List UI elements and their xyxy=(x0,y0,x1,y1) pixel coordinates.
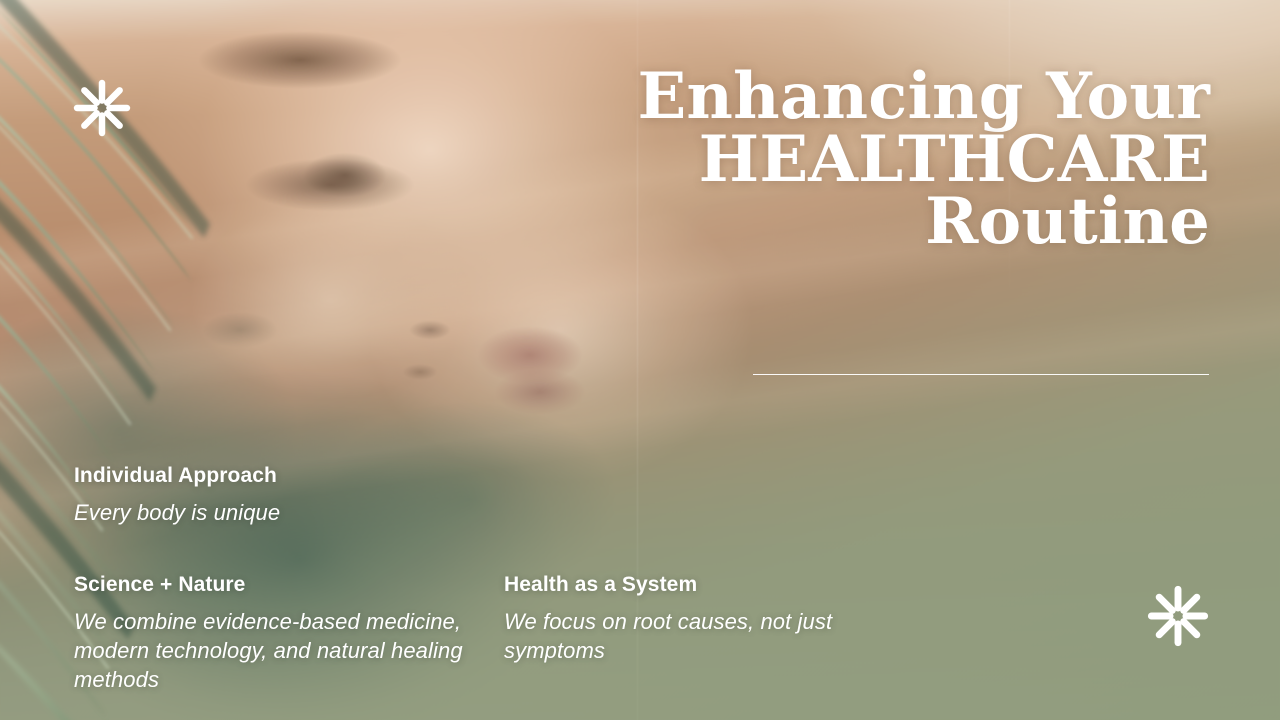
feature-block-science-nature: Science + Nature We combine evidence-bas… xyxy=(74,572,474,694)
horizontal-divider xyxy=(753,374,1209,375)
feature-body: Every body is unique xyxy=(74,498,494,527)
feature-body: We combine evidence-based medicine, mode… xyxy=(74,607,474,694)
asterisk-icon xyxy=(72,78,132,138)
presentation-slide: Enhancing Your HEALTHCARE Routine Indivi… xyxy=(0,0,1280,720)
asterisk-icon xyxy=(1146,584,1210,648)
headline-line-1: Enhancing Your xyxy=(410,66,1210,129)
feature-body: We focus on root causes, not just sympto… xyxy=(504,607,934,665)
feature-block-individual-approach: Individual Approach Every body is unique xyxy=(74,463,494,527)
headline-line-2: HEALTHCARE Routine xyxy=(410,129,1210,254)
feature-title: Science + Nature xyxy=(74,572,474,598)
feature-title: Health as a System xyxy=(504,572,934,598)
feature-block-health-as-a-system: Health as a System We focus on root caus… xyxy=(504,572,934,665)
feature-title: Individual Approach xyxy=(74,463,494,489)
page-title: Enhancing Your HEALTHCARE Routine xyxy=(410,66,1210,254)
